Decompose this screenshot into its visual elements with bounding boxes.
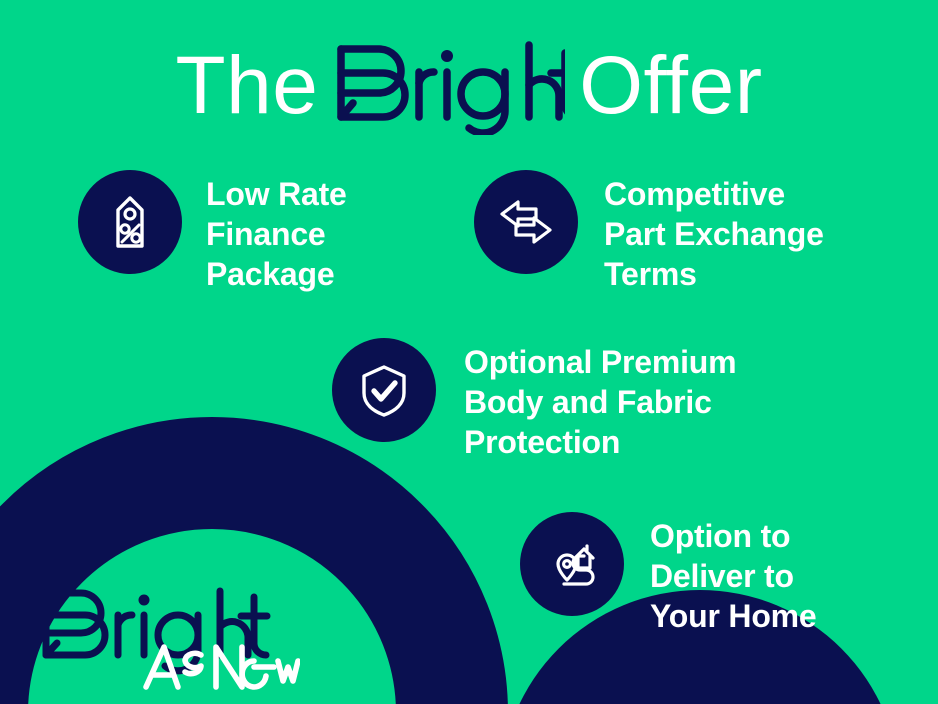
headline-prefix: The bbox=[176, 40, 319, 131]
feature-home-delivery: Option to Deliver to Your Home bbox=[520, 512, 817, 636]
feature-icon-badge bbox=[332, 338, 436, 442]
bright-logotype bbox=[333, 39, 565, 139]
feature-label: Competitive Part Exchange Terms bbox=[604, 170, 824, 294]
feature-low-rate-finance: Low Rate Finance Package bbox=[78, 170, 347, 294]
feature-icon-badge bbox=[78, 170, 182, 274]
exchange-arrows-icon bbox=[496, 192, 556, 252]
feature-icon-badge bbox=[520, 512, 624, 616]
feature-icon-badge bbox=[474, 170, 578, 274]
headline-suffix: Offer bbox=[579, 40, 762, 131]
promotional-poster: The bbox=[0, 0, 938, 704]
shield-check-icon bbox=[355, 361, 413, 419]
price-tag-percent-icon bbox=[101, 193, 159, 251]
feature-label: Option to Deliver to Your Home bbox=[650, 512, 817, 636]
brand-logo-brightasnew bbox=[38, 583, 300, 696]
feature-label: Optional Premium Body and Fabric Protect… bbox=[464, 338, 736, 462]
feature-label: Low Rate Finance Package bbox=[206, 170, 347, 294]
brand-secondary-wordmark bbox=[146, 647, 298, 687]
headline: The bbox=[0, 36, 938, 136]
feature-part-exchange: Competitive Part Exchange Terms bbox=[474, 170, 824, 294]
delivery-route-house-icon bbox=[542, 534, 602, 594]
feature-body-fabric-protection: Optional Premium Body and Fabric Protect… bbox=[332, 338, 736, 462]
